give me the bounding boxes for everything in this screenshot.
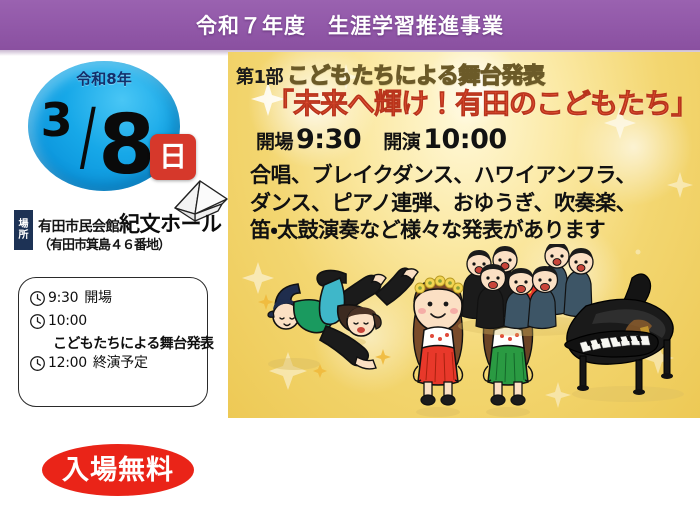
venue-tag-char-2: 所 xyxy=(19,230,29,242)
quote-title: 「未来へ輝け！有田のこどもたち」 xyxy=(266,82,698,122)
start-time: 10:00 xyxy=(423,124,506,155)
program-list: 合唱、ブレイクダンス、ハワイアンフラ、 ダンス、ピアノ連弾、おゆうぎ、吹奏楽、 … xyxy=(250,162,636,245)
open-time: 9:30 xyxy=(296,124,361,155)
schedule-time: 12:00 xyxy=(48,354,87,373)
schedule-item: 12:00 終演予定 xyxy=(29,354,207,376)
venue-block: 場 所 有田市民会館紀文ホール （有田市箕島４６番地） xyxy=(10,208,228,260)
date-separator: / xyxy=(80,98,96,174)
illustration-group xyxy=(228,244,700,418)
day-of-week-badge: 日 xyxy=(150,134,196,180)
venue-tag-char-1: 場 xyxy=(19,219,29,231)
main-gold-panel: 第1部 こどもたちによる舞台発表 「未来へ輝け！有田のこどもたち」 開場 9:3… xyxy=(228,52,700,418)
venue-facility: 有田市民会館 xyxy=(38,219,119,235)
venue-hall: 紀文ホール xyxy=(119,212,222,236)
left-column: 令和8年 3 / 8 日 xyxy=(0,52,228,530)
schedule-item: 10:00 xyxy=(29,312,207,334)
start-label: 開演 xyxy=(383,127,420,154)
clock-icon xyxy=(29,290,46,311)
times-line: 開場 9:30 開演 10:00 xyxy=(256,124,507,155)
schedule-time: 10:00 xyxy=(48,312,87,331)
program-line: 合唱、ブレイクダンス、ハワイアンフラ、 xyxy=(250,162,636,190)
venue-address: （有田市箕島４６番地） xyxy=(38,234,170,253)
program-line: ダンス、ピアノ連弾、おゆうぎ、吹奏楽、 xyxy=(250,190,636,218)
schedule-item: 9:30 開場 xyxy=(29,289,207,311)
schedule-detail: こどもたちによる舞台発表 xyxy=(53,335,207,354)
event-poster: 令和７年度 生涯学習推進事業 令和8年 3 / 8 日 xyxy=(0,0,700,530)
schedule-time: 9:30 xyxy=(48,289,78,308)
open-label: 開場 xyxy=(256,127,293,154)
day-of-week-label: 日 xyxy=(159,143,187,171)
schedule-label: 開場 xyxy=(84,289,111,308)
date-month: 3 xyxy=(41,97,73,143)
header-band: 令和７年度 生涯学習推進事業 xyxy=(0,0,700,50)
program-line: 笛・太鼓演奏など様々な発表があります xyxy=(250,217,636,245)
hula-dancer-illustration xyxy=(413,276,463,417)
free-admission-badge: 入場無料 xyxy=(42,444,194,496)
page-title: 令和７年度 生涯学習推進事業 xyxy=(196,10,504,40)
clock-icon xyxy=(29,355,46,376)
free-admission-label: 入場無料 xyxy=(62,457,174,484)
schedule-box: 9:30 開場 10:00 こどもたちによる舞台発表 xyxy=(18,277,208,407)
date-day: 8 xyxy=(98,105,155,187)
venue-tag: 場 所 xyxy=(14,210,33,250)
clock-icon xyxy=(29,313,46,334)
schedule-label: 終演予定 xyxy=(93,354,148,373)
